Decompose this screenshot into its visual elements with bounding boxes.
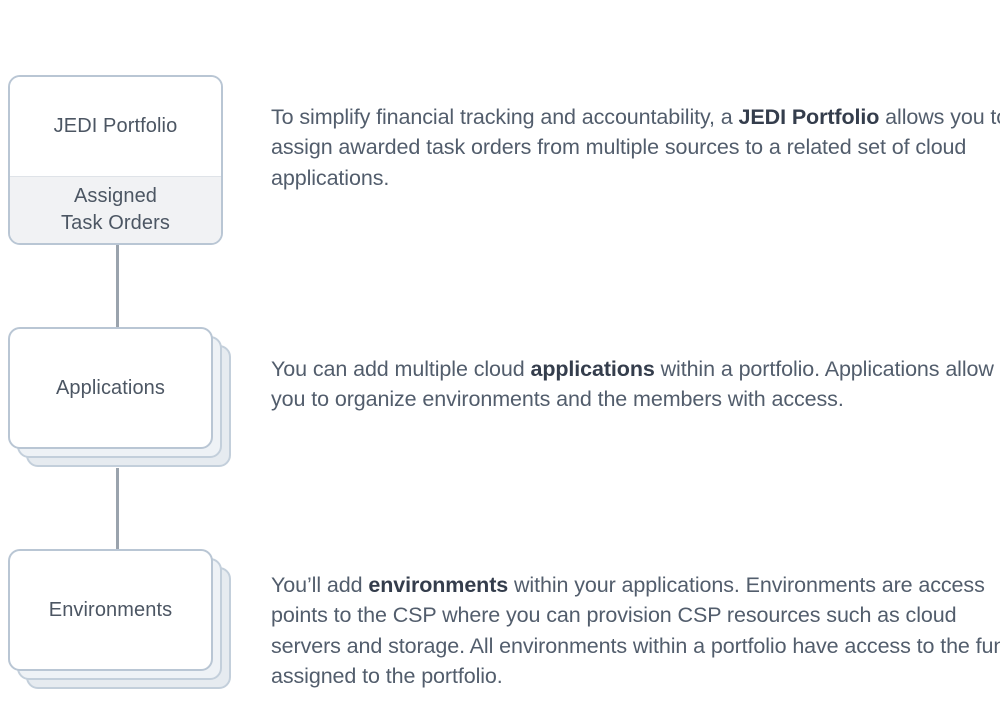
node-sublabel-assigned-task-orders: AssignedTask Orders [61,183,170,237]
description-applications-emphasis: applications [530,357,654,381]
description-portfolio-emphasis: JEDI Portfolio [739,105,880,129]
description-portfolio-part1: To simplify financial tracking and accou… [271,105,739,129]
connector-applications-to-environments [116,468,119,552]
description-column: To simplify financial tracking and accou… [271,0,1000,707]
environments-card-front: Environments [8,549,213,671]
connector-portfolio-to-applications [116,245,119,329]
description-environments-part1: You’ll add [271,573,368,597]
portfolio-structure-diagram: JEDI Portfolio AssignedTask Orders Appli… [0,0,1000,707]
node-label-jedi-portfolio: JEDI Portfolio [54,113,178,140]
description-jedi-portfolio: To simplify financial tracking and accou… [271,102,1000,194]
description-applications: You can add multiple cloud applications … [271,354,1000,415]
node-sublabel-line-2: Task Orders [61,212,170,234]
jedi-portfolio-card-header: JEDI Portfolio [10,77,221,177]
node-sublabel-line-1: Assigned [74,185,157,207]
node-label-environments: Environments [49,597,172,624]
node-environments: Environments [8,549,240,697]
node-jedi-portfolio: JEDI Portfolio AssignedTask Orders [8,75,223,245]
description-applications-part1: You can add multiple cloud [271,357,530,381]
jedi-portfolio-card: JEDI Portfolio AssignedTask Orders [8,75,223,245]
description-environments-emphasis: environments [368,573,508,597]
node-label-applications: Applications [56,375,165,402]
applications-card-front: Applications [8,327,213,449]
description-environments: You’ll add environments within your appl… [271,570,1000,692]
node-applications: Applications [8,327,240,475]
jedi-portfolio-card-subsection: AssignedTask Orders [10,177,221,243]
